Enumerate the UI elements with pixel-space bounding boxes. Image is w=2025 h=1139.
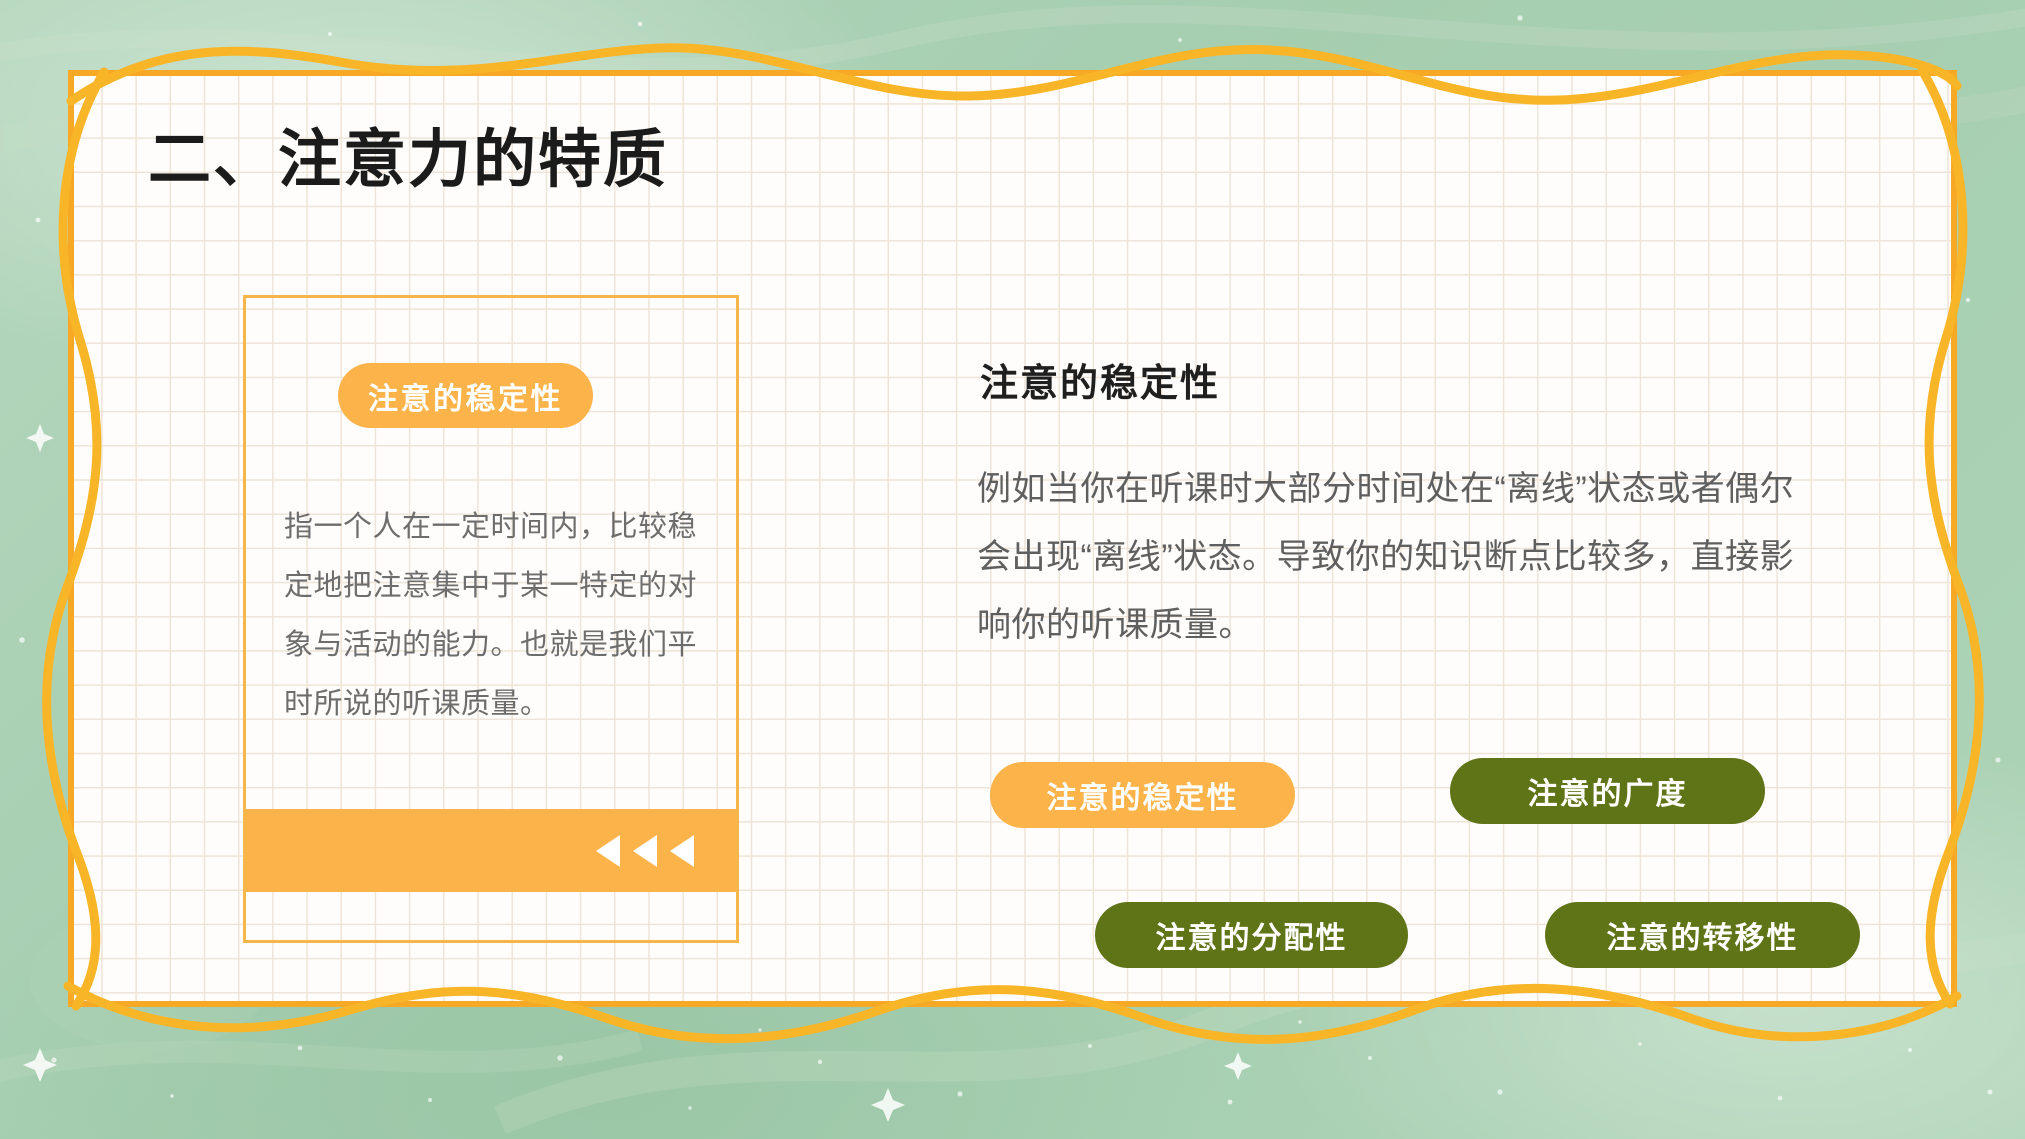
tag-label: 注意的稳定性 <box>1047 773 1239 817</box>
triangle-left-icon <box>596 835 620 867</box>
slide-root: 二、注意力的特质 注意的稳定性 指一个人在一定时间内，比较稳定地把注意集中于某一… <box>0 0 2025 1139</box>
detail-heading: 注意的稳定性 <box>980 352 1220 407</box>
tag-label: 注意的广度 <box>1528 769 1688 813</box>
tag-label: 注意的转移性 <box>1607 913 1799 957</box>
tag-label: 注意的分配性 <box>1156 913 1348 957</box>
triangle-left-icon <box>633 835 657 867</box>
card-footer-bar <box>246 809 736 892</box>
card-body-text: 指一个人在一定时间内，比较稳定地把注意集中于某一特定的对象与活动的能力。也就是我… <box>284 498 704 734</box>
tag-attention-breadth[interactable]: 注意的广度 <box>1450 758 1765 824</box>
card-pill-label: 注意的稳定性 <box>368 374 563 418</box>
triangle-left-icon <box>670 835 694 867</box>
card-pill-badge: 注意的稳定性 <box>338 363 593 428</box>
tag-attention-stability[interactable]: 注意的稳定性 <box>990 762 1295 828</box>
page-title: 二、注意力的特质 <box>148 126 668 195</box>
tag-attention-transfer[interactable]: 注意的转移性 <box>1545 902 1860 968</box>
definition-card: 注意的稳定性 指一个人在一定时间内，比较稳定地把注意集中于某一特定的对象与活动的… <box>243 295 739 943</box>
tag-attention-distribution[interactable]: 注意的分配性 <box>1095 902 1408 968</box>
detail-paragraph: 例如当你在听课时大部分时间处在“离线”状态或者偶尔会出现“离线”状态。导致你的知… <box>977 455 1827 659</box>
